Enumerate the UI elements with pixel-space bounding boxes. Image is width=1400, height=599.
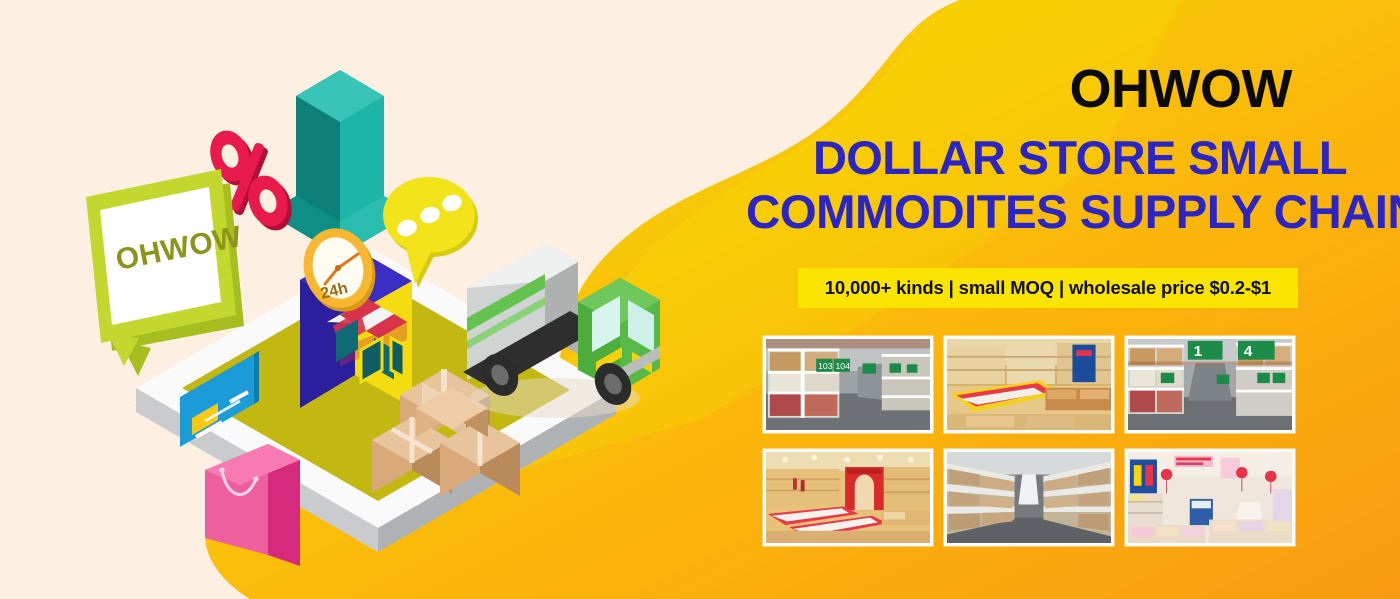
photo-image [947, 339, 1111, 430]
photo-image [766, 452, 930, 543]
isometric-illustration: OHWOW [0, 0, 760, 599]
photo-image [1128, 452, 1292, 543]
svg-text:1: 1 [1194, 343, 1203, 360]
illustration-artwork: OHWOW [0, 0, 760, 599]
content-column: OHWOW DOLLAR STORE SMALL COMMODITES SUPP… [760, 0, 1400, 599]
delivery-truck-icon [463, 244, 660, 418]
photo-image [947, 452, 1111, 543]
photo-image: 1 4 [1128, 339, 1292, 430]
photo-warehouse-aisle-103[interactable]: 103 104 [763, 336, 933, 433]
promo-banner: OHWOW [0, 0, 1400, 599]
features-badge-text: 10,000+ kinds | small MOQ | wholesale pr… [825, 277, 1271, 299]
photo-grid: 103 104 [763, 336, 1303, 546]
svg-text:104: 104 [835, 361, 850, 371]
headline-line-1: DOLLAR STORE SMALL [760, 130, 1400, 185]
svg-text:103: 103 [818, 361, 833, 371]
headline-block: DOLLAR STORE SMALL COMMODITES SUPPLY CHA… [760, 130, 1400, 242]
photo-warehouse-aisle-green-signs[interactable]: 1 4 [1125, 336, 1295, 433]
features-badge: 10,000+ kinds | small MOQ | wholesale pr… [798, 268, 1298, 308]
photo-store-displays-yellow[interactable] [944, 336, 1114, 433]
headline-line-2: COMMODITES SUPPLY CHAIN [746, 185, 1400, 241]
photo-storage-racks-boxes[interactable] [944, 449, 1114, 546]
photo-retail-shop-floor[interactable] [1125, 449, 1295, 546]
brand-title: OHWOW [1070, 62, 1292, 116]
shopping-bag-icon [205, 444, 300, 566]
svg-text:4: 4 [1244, 343, 1253, 360]
photo-showroom-red-arch[interactable] [763, 449, 933, 546]
photo-image: 103 104 [766, 339, 930, 430]
